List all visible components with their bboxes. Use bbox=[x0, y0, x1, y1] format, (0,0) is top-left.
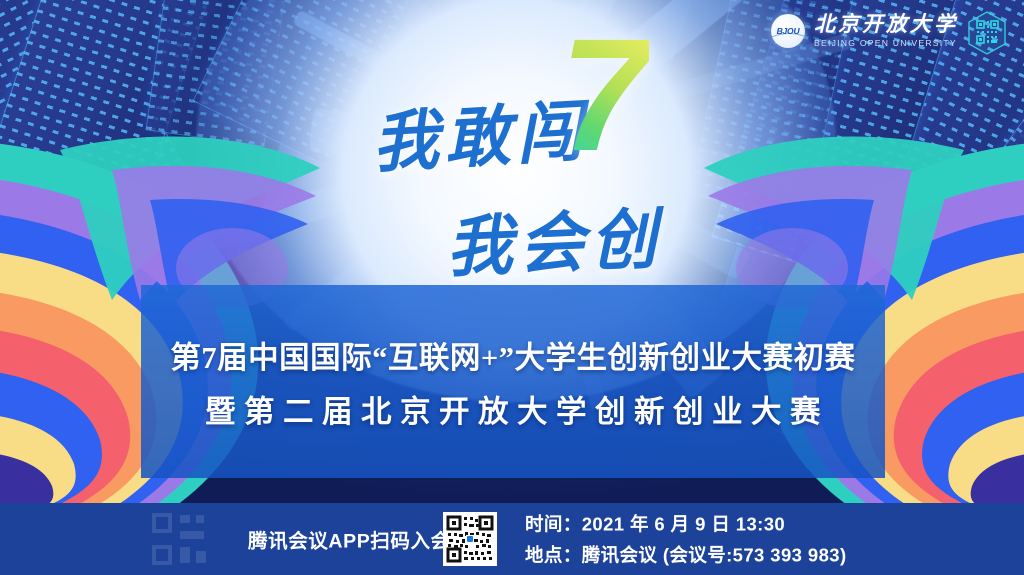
scan-to-join-label: 腾讯会议APP扫码入会 bbox=[248, 525, 451, 554]
qr-code-icon[interactable] bbox=[443, 512, 497, 566]
hexagon-qr-icon bbox=[966, 10, 1008, 56]
brand-text-group: 北京开放大学 BEIJING OPEN UNIVERSITY bbox=[814, 14, 958, 48]
slogan-line-2: 我会创 bbox=[444, 186, 664, 291]
slogan-line-1: 我敢闯 bbox=[369, 78, 590, 186]
university-name-en: BEIJING OPEN UNIVERSITY bbox=[814, 39, 958, 48]
event-info-group: 时间：2021 年 6 月 9 日 13:30 地点：腾讯会议 (会议号:573… bbox=[525, 511, 847, 568]
footer-bar: 腾讯会议APP扫码入会 bbox=[0, 503, 1024, 575]
bjou-badge-icon: BJOU bbox=[771, 14, 805, 48]
page-title: 第7届中国国际“互联网+”大学生创新创业大赛初赛 bbox=[170, 333, 855, 377]
edition-number: 7 bbox=[560, 20, 649, 170]
event-place: 地点：腾讯会议 (会议号:573 393 983) bbox=[525, 542, 847, 568]
event-time: 时间：2021 年 6 月 9 日 13:30 bbox=[525, 511, 847, 537]
university-name-cn: 北京开放大学 bbox=[814, 14, 958, 35]
page-subtitle: 暨第二届北京开放大学创新创业大赛 bbox=[197, 387, 829, 431]
poster-canvas: 我敢闯 我会创 7 第7届中国国际“互联网+”大学生创新创业大赛初赛 暨第二届北… bbox=[0, 0, 1024, 575]
slogan-group: 我敢闯 我会创 bbox=[372, 62, 702, 262]
footer-content: 腾讯会议APP扫码入会 bbox=[0, 503, 1024, 575]
title-banner: 第7届中国国际“互联网+”大学生创新创业大赛初赛 暨第二届北京开放大学创新创业大… bbox=[141, 285, 885, 478]
university-logo: BJOU 北京开放大学 BEIJING OPEN UNIVERSITY bbox=[771, 14, 958, 48]
bjou-badge-text: BJOU bbox=[777, 26, 800, 36]
